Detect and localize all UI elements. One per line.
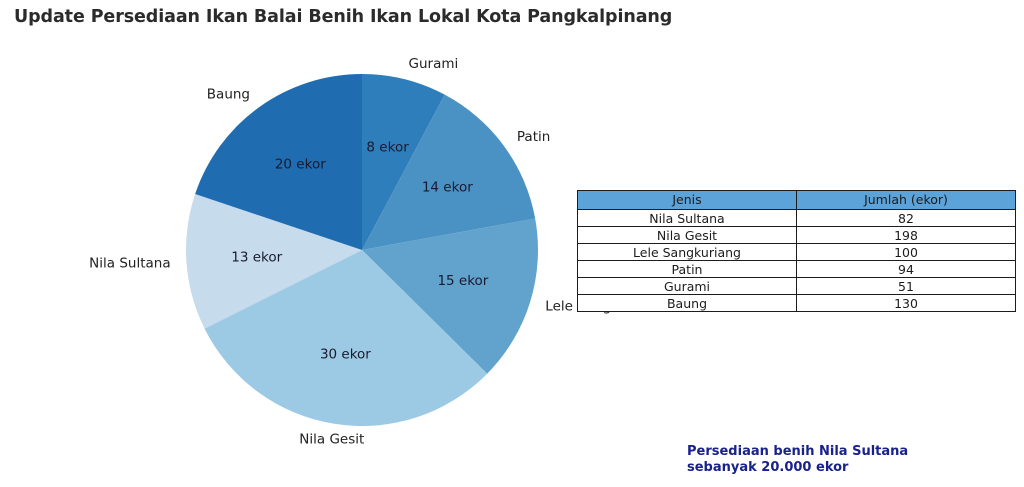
table-cell-jumlah: 198 — [797, 227, 1016, 244]
pie-category-label-gurami: Gurami — [409, 56, 459, 72]
footnote-annotation: Persediaan benih Nila Sultana sebanyak 2… — [687, 444, 908, 476]
table-row: Nila Gesit198 — [578, 227, 1016, 244]
table-cell-jenis: Baung — [578, 295, 797, 312]
table-cell-jumlah: 94 — [797, 261, 1016, 278]
pie-category-label-nila-gesit: Nila Gesit — [299, 431, 364, 447]
table-row: Patin94 — [578, 261, 1016, 278]
fish-stock-table: Jenis Jumlah (ekor) Nila Sultana82Nila G… — [577, 190, 1016, 312]
table-cell-jumlah: 130 — [797, 295, 1016, 312]
pie-value-label-lele-sangkuriang: 15 ekor — [437, 273, 488, 289]
column-header-jumlah: Jumlah (ekor) — [797, 191, 1016, 210]
table-cell-jenis: Gurami — [578, 278, 797, 295]
pie-value-label-nila-gesit: 30 ekor — [320, 346, 371, 362]
table-header: Jenis Jumlah (ekor) — [578, 191, 1016, 210]
data-table-container: Jenis Jumlah (ekor) Nila Sultana82Nila G… — [577, 190, 1016, 312]
table-header-row: Jenis Jumlah (ekor) — [578, 191, 1016, 210]
column-header-jenis: Jenis — [578, 191, 797, 210]
table-row: Lele Sangkuriang100 — [578, 244, 1016, 261]
pie-category-label-nila-sultana: Nila Sultana — [89, 255, 170, 271]
table-cell-jumlah: 100 — [797, 244, 1016, 261]
pie-value-label-patin: 14 ekor — [422, 180, 473, 196]
table-row: Gurami51 — [578, 278, 1016, 295]
pie-chart-svg: 8 ekor14 ekor15 ekor30 ekor13 ekor20 eko… — [0, 36, 620, 456]
pie-value-label-baung: 20 ekor — [275, 156, 326, 172]
table-body: Nila Sultana82Nila Gesit198Lele Sangkuri… — [578, 210, 1016, 312]
table-cell-jenis: Nila Sultana — [578, 210, 797, 227]
pie-chart: 8 ekor14 ekor15 ekor30 ekor13 ekor20 eko… — [0, 36, 620, 456]
table-cell-jenis: Lele Sangkuriang — [578, 244, 797, 261]
table-row: Baung130 — [578, 295, 1016, 312]
pie-value-label-nila-sultana: 13 ekor — [231, 249, 282, 265]
table-row: Nila Sultana82 — [578, 210, 1016, 227]
table-cell-jumlah: 82 — [797, 210, 1016, 227]
pie-category-label-patin: Patin — [517, 129, 550, 145]
table-cell-jumlah: 51 — [797, 278, 1016, 295]
pie-category-label-baung: Baung — [207, 86, 250, 102]
pie-value-label-gurami: 8 ekor — [366, 140, 409, 156]
table-cell-jenis: Nila Gesit — [578, 227, 797, 244]
page-title: Update Persediaan Ikan Balai Benih Ikan … — [14, 7, 672, 27]
table-cell-jenis: Patin — [578, 261, 797, 278]
